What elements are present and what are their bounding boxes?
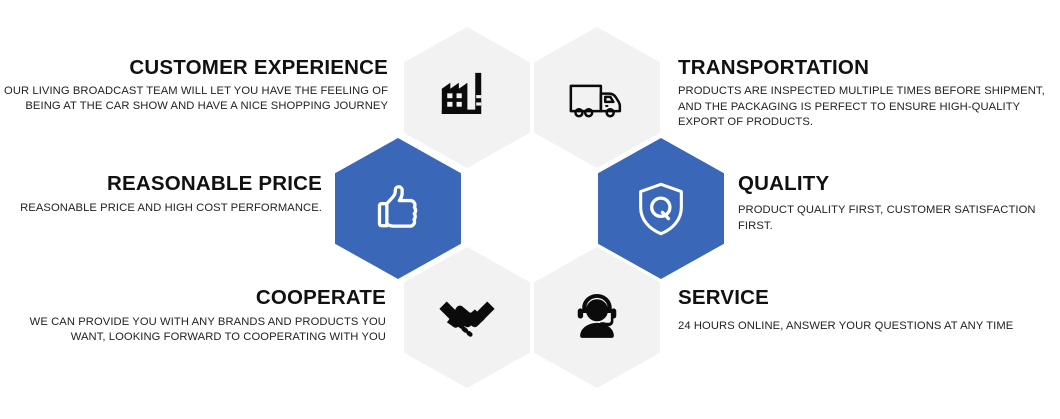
features-honeycomb-infographic: CUSTOMER EXPERIENCE OUR LIVING BROADCAST… [0,0,1060,419]
hex-tile-service[interactable] [534,247,660,388]
hex-tile-cooperate[interactable] [404,247,530,388]
feature-text-reasonable-price: REASONABLE PRICE REASONABLE PRICE AND HI… [0,172,322,216]
feature-desc-quality: PRODUCT QUALITY FIRST, CUSTOMER SATISFAC… [738,203,1048,234]
feature-text-quality: QUALITY PRODUCT QUALITY FIRST, CUSTOMER … [738,172,1048,234]
feature-text-customer-experience: CUSTOMER EXPERIENCE OUR LIVING BROADCAST… [0,56,388,114]
feature-desc-reasonable-price: REASONABLE PRICE AND HIGH COST PERFORMAN… [0,201,322,216]
feature-title-service: SERVICE [678,286,1038,310]
feature-text-service: SERVICE 24 HOURS ONLINE, ANSWER YOUR QUE… [678,286,1038,334]
headset-support-icon [566,287,628,349]
feature-desc-service: 24 HOURS ONLINE, ANSWER YOUR QUESTIONS A… [678,319,1038,334]
feature-title-cooperate: COOPERATE [0,286,386,310]
factory-icon [436,67,498,129]
feature-desc-cooperate: WE CAN PROVIDE YOU WITH ANY BRANDS AND P… [0,315,386,345]
handshake-icon [436,287,498,349]
feature-title-transportation: TRANSPORTATION [678,56,1050,80]
thumbs-up-icon [367,178,429,240]
feature-text-transportation: TRANSPORTATION PRODUCTS ARE INSPECTED MU… [678,56,1050,131]
feature-desc-customer-experience: OUR LIVING BROADCAST TEAM WILL LET YOU H… [0,84,388,114]
delivery-truck-icon [566,67,628,129]
feature-title-reasonable-price: REASONABLE PRICE [0,172,322,196]
hex-tile-customer-experience[interactable] [404,27,530,168]
shield-q-icon [630,178,692,240]
feature-title-customer-experience: CUSTOMER EXPERIENCE [0,56,388,80]
hex-tile-reasonable-price[interactable] [335,138,461,279]
feature-desc-transportation: PRODUCTS ARE INSPECTED MULTIPLE TIMES BE… [678,84,1050,131]
feature-text-cooperate: COOPERATE WE CAN PROVIDE YOU WITH ANY BR… [0,286,386,345]
hex-tile-transportation[interactable] [534,27,660,168]
feature-title-quality: QUALITY [738,172,1048,196]
hex-tile-quality[interactable] [598,138,724,279]
